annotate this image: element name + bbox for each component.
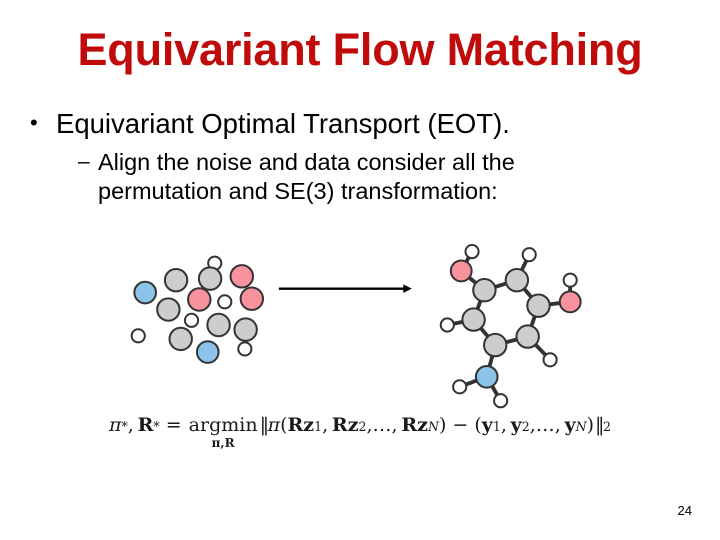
eq-comma-1: , [128,414,134,436]
eq-Rz-N: Rz [401,414,428,436]
atom-c1 [473,279,495,301]
atom-carbon [170,328,192,350]
atom-hydrogen [238,342,251,355]
atom-h4 [494,394,507,407]
atom-o1 [451,260,472,281]
atom-hydrogen [218,295,231,308]
eq-y-N: y [565,414,576,436]
page-number: 24 [678,503,692,518]
atom-nitrogen [197,341,219,363]
atom-n1 [476,366,498,388]
eq-ellipsis-2: ,…, [530,414,561,436]
eq-paren-open-1: ( [280,414,287,436]
eq-argmin-op: argmin [189,416,258,435]
eq-y-1: y [482,414,493,436]
atom-h6 [441,318,454,331]
eq-paren-open-2: ( [474,414,481,436]
atom-c6 [462,308,484,330]
atom-carbon [234,318,256,340]
slide-canvas: Equivariant Flow Matching • Equivariant … [0,0,720,540]
atom-h5 [523,248,536,261]
equation-line: π*, R* = argminπ,R‖π(Rz1, Rz2,…, RzN) − … [109,414,611,449]
atom-carbon [199,267,221,289]
noise-point-cloud [132,257,263,363]
atom-oxygen [188,288,210,310]
eq-minus: − [452,414,468,436]
eq-y-2: y [511,414,522,436]
bullet-level1: • Equivariant Optimal Transport (EOT). [30,108,690,140]
atom-c2 [506,269,528,291]
atom-h2 [564,274,577,287]
figure-svg [70,240,650,410]
eq-paren-close-1: ) [439,414,446,436]
eq-comma-2: , [322,414,328,436]
atom-oxygen [241,288,263,310]
eot-equation: π*, R* = argminπ,R‖π(Rz1, Rz2,…, RzN) − … [0,414,720,449]
atom-carbon [157,298,179,320]
assembled-molecule [441,245,581,407]
eq-paren-close-2: ) [587,414,594,436]
bullet-marker-dash: – [78,148,98,175]
atom-h1 [465,245,478,258]
atom-h7 [544,353,557,366]
eq-norm-close: ‖ [595,414,601,436]
slide-body: • Equivariant Optimal Transport (EOT). –… [30,108,690,205]
atom-c4 [516,325,538,347]
eq-pi-fn: π [268,414,281,436]
atom-hydrogen [132,329,145,342]
page-title: Equivariant Flow Matching [0,26,720,73]
atom-h3 [453,380,466,393]
atom-oxygen [231,265,253,287]
bullet-level2: – Align the noise and data consider all … [78,148,690,205]
bullet-level2-text: Align the noise and data consider all th… [98,148,598,205]
eq-equals: = [166,414,182,436]
bullet-level1-text: Equivariant Optimal Transport (EOT). [56,108,690,140]
bullet-marker-dot: • [30,108,56,137]
eot-figure [70,240,650,410]
eq-Rz-1: Rz [287,414,314,436]
atom-c3 [527,294,549,316]
atom-carbon [165,269,187,291]
eq-pi-star: π [109,414,122,436]
atom-carbon [207,314,229,336]
atom-o2 [560,291,581,312]
eq-comma-3: , [501,414,507,436]
eq-ellipsis-1: ,…, [366,414,397,436]
eq-argmin-limit: π,R [212,437,235,449]
arrow-head [403,284,412,293]
atom-nitrogen [134,282,156,304]
eq-argmin: argminπ,R [189,416,258,449]
atom-hydrogen [185,314,198,327]
atom-c5 [484,334,506,356]
transformation-arrow-icon [279,284,412,293]
eq-Rz-2: Rz [332,414,359,436]
eq-norm-open: ‖ [260,414,266,436]
eq-R-star: R [138,414,154,436]
